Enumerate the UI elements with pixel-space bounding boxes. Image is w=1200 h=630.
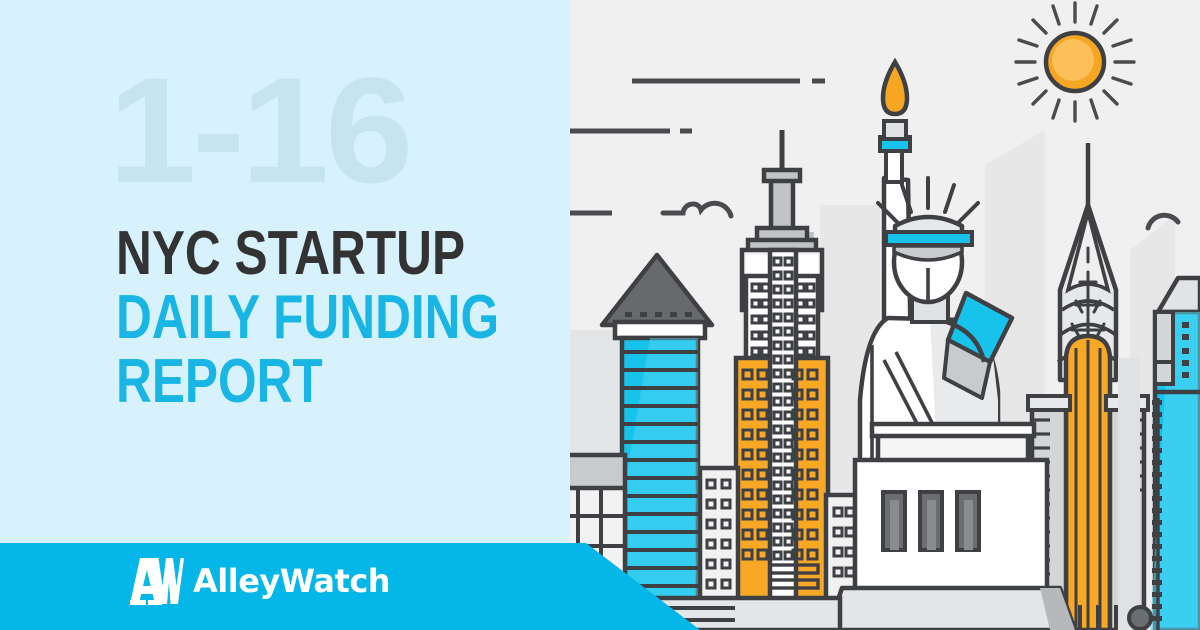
- page-title: NYC STARTUP DAILY FUNDING REPORT: [116, 222, 595, 414]
- aw-monogram-icon: [128, 556, 184, 606]
- date-watermark: 1-16: [108, 55, 409, 205]
- alleywatch-wordmark: AlleyWatch: [193, 565, 390, 597]
- sun-icon: [1016, 3, 1134, 121]
- alleywatch-logo[interactable]: AlleyWatch: [128, 556, 390, 606]
- headline-line-2: DAILY FUNDING: [116, 286, 499, 350]
- headline-line-3: REPORT: [116, 350, 499, 414]
- poster-canvas: 1-16 NYC STARTUP DAILY FUNDING REPORT Al…: [0, 0, 1200, 630]
- headline-line-1: NYC STARTUP: [116, 222, 499, 286]
